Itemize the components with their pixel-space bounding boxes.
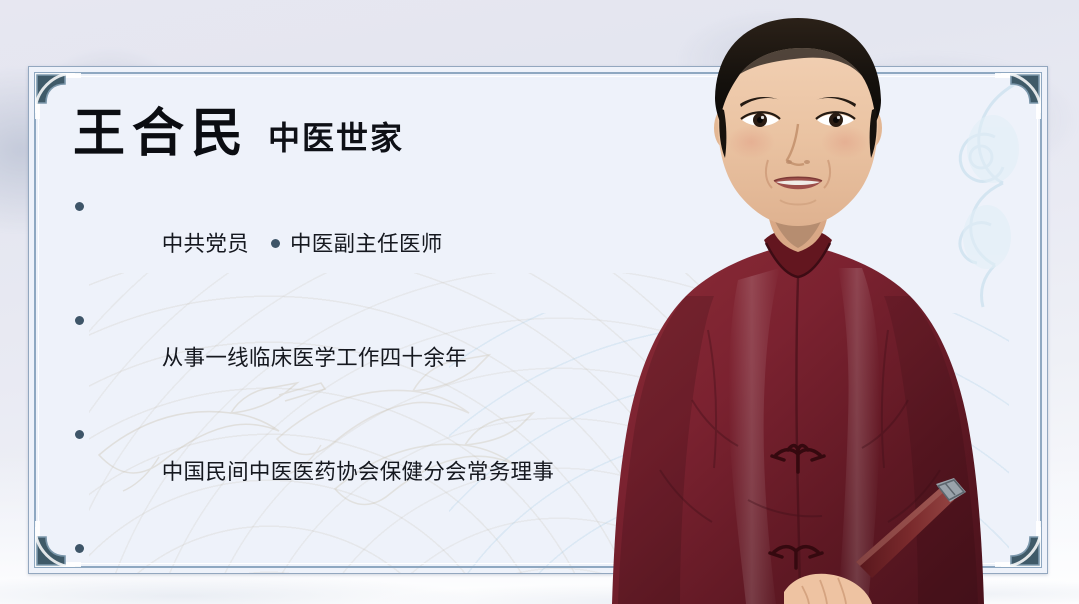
credential-item-2: 中国民间中医医药协会保健分会常务理事: [73, 415, 693, 529]
corner-ornament-bottom-right: [995, 521, 1041, 567]
doctor-name: 王合民: [73, 109, 250, 161]
credential-text: 从事一线临床医学工作四十余年: [162, 346, 467, 370]
credential-item-3: 非物质文化遗产王氏中医挑刺疗法传承人: [73, 529, 693, 574]
cloud-motif-bottom-right: [777, 363, 957, 553]
credential-text: 中国民间中医医药协会保健分会常务理事: [162, 460, 554, 484]
corner-ornament-bottom-left: [35, 521, 81, 567]
corner-ornament-top-right: [995, 73, 1041, 119]
bullet-icon-inline: [271, 239, 280, 248]
slide-canvas: 王合民 中医世家 中共党员中医副主任医师 从事一线临床医学工作四十余年 中国民间…: [0, 0, 1079, 604]
credentials-list: 中共党员中医副主任医师 从事一线临床医学工作四十余年 中国民间中医医药协会保健分…: [73, 187, 693, 574]
credential-text-title: 中医副主任医师: [290, 232, 443, 256]
title-row: 王合民 中医世家: [73, 109, 693, 161]
profile-card: 王合民 中医世家 中共党员中医副主任医师 从事一线临床医学工作四十余年 中国民间…: [28, 66, 1048, 574]
bullet-icon: [75, 430, 84, 439]
doctor-subtitle: 中医世家: [268, 122, 404, 154]
credential-item-0: 中共党员中医副主任医师: [73, 187, 693, 301]
hand: [784, 574, 872, 604]
credential-item-1: 从事一线临床医学工作四十余年: [73, 301, 693, 415]
credential-text-party: 中共党员: [162, 232, 249, 256]
doctor-info-block: 王合民 中医世家 中共党员中医副主任医师 从事一线临床医学工作四十余年 中国民间…: [73, 109, 693, 574]
bullet-icon: [75, 202, 84, 211]
corner-ornament-top-left: [35, 73, 81, 119]
bullet-icon: [75, 316, 84, 325]
